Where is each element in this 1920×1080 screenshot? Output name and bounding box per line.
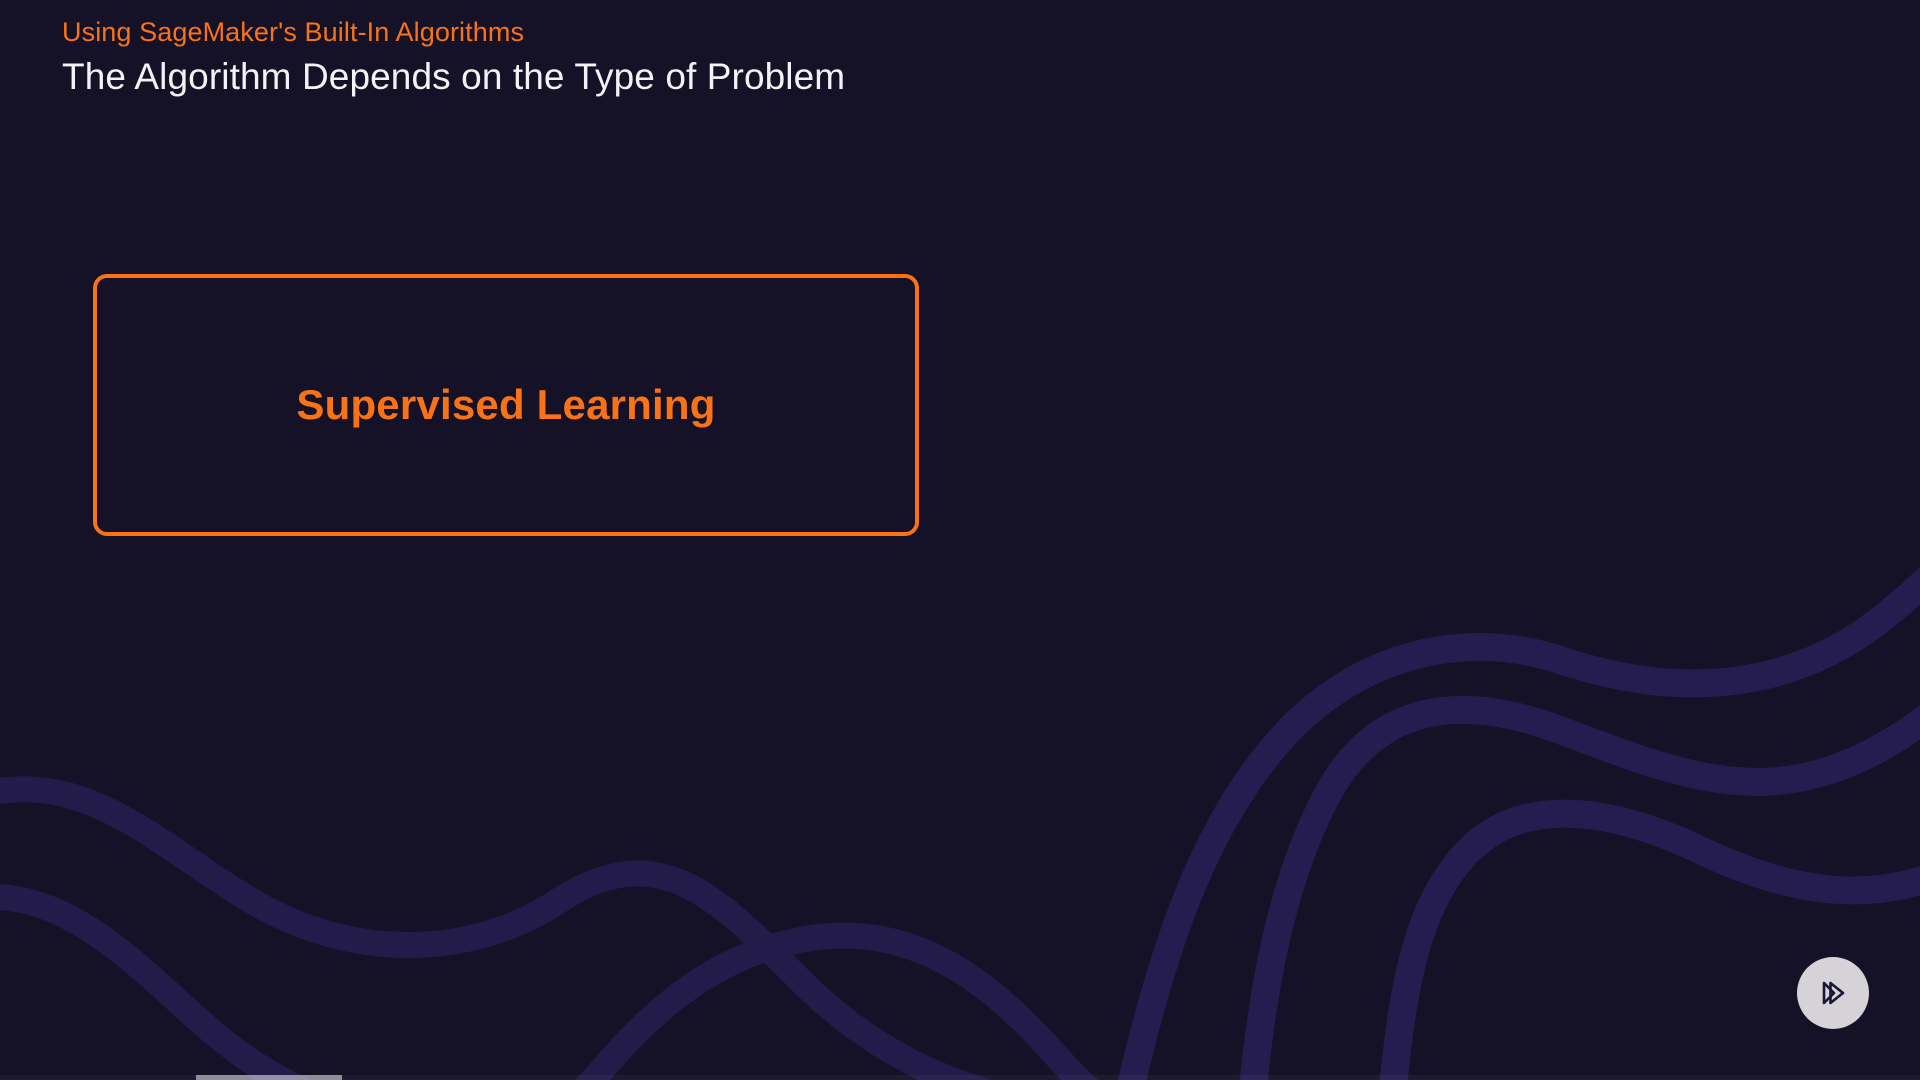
- concept-box-supervised-learning: Supervised Learning: [93, 274, 919, 536]
- skip-forward-button[interactable]: [1797, 957, 1869, 1029]
- skip-forward-icon: [1813, 973, 1853, 1013]
- progress-fill[interactable]: [196, 1075, 342, 1080]
- slide-header: Using SageMaker's Built-In Algorithms Th…: [62, 16, 845, 124]
- slide-eyebrow: Using SageMaker's Built-In Algorithms: [62, 16, 845, 49]
- slide-title: The Algorithm Depends on the Type of Pro…: [62, 55, 845, 99]
- background-wave-decoration: [0, 0, 1920, 1080]
- slide-canvas: Using SageMaker's Built-In Algorithms Th…: [0, 0, 1920, 1080]
- concept-box-label: Supervised Learning: [296, 381, 715, 429]
